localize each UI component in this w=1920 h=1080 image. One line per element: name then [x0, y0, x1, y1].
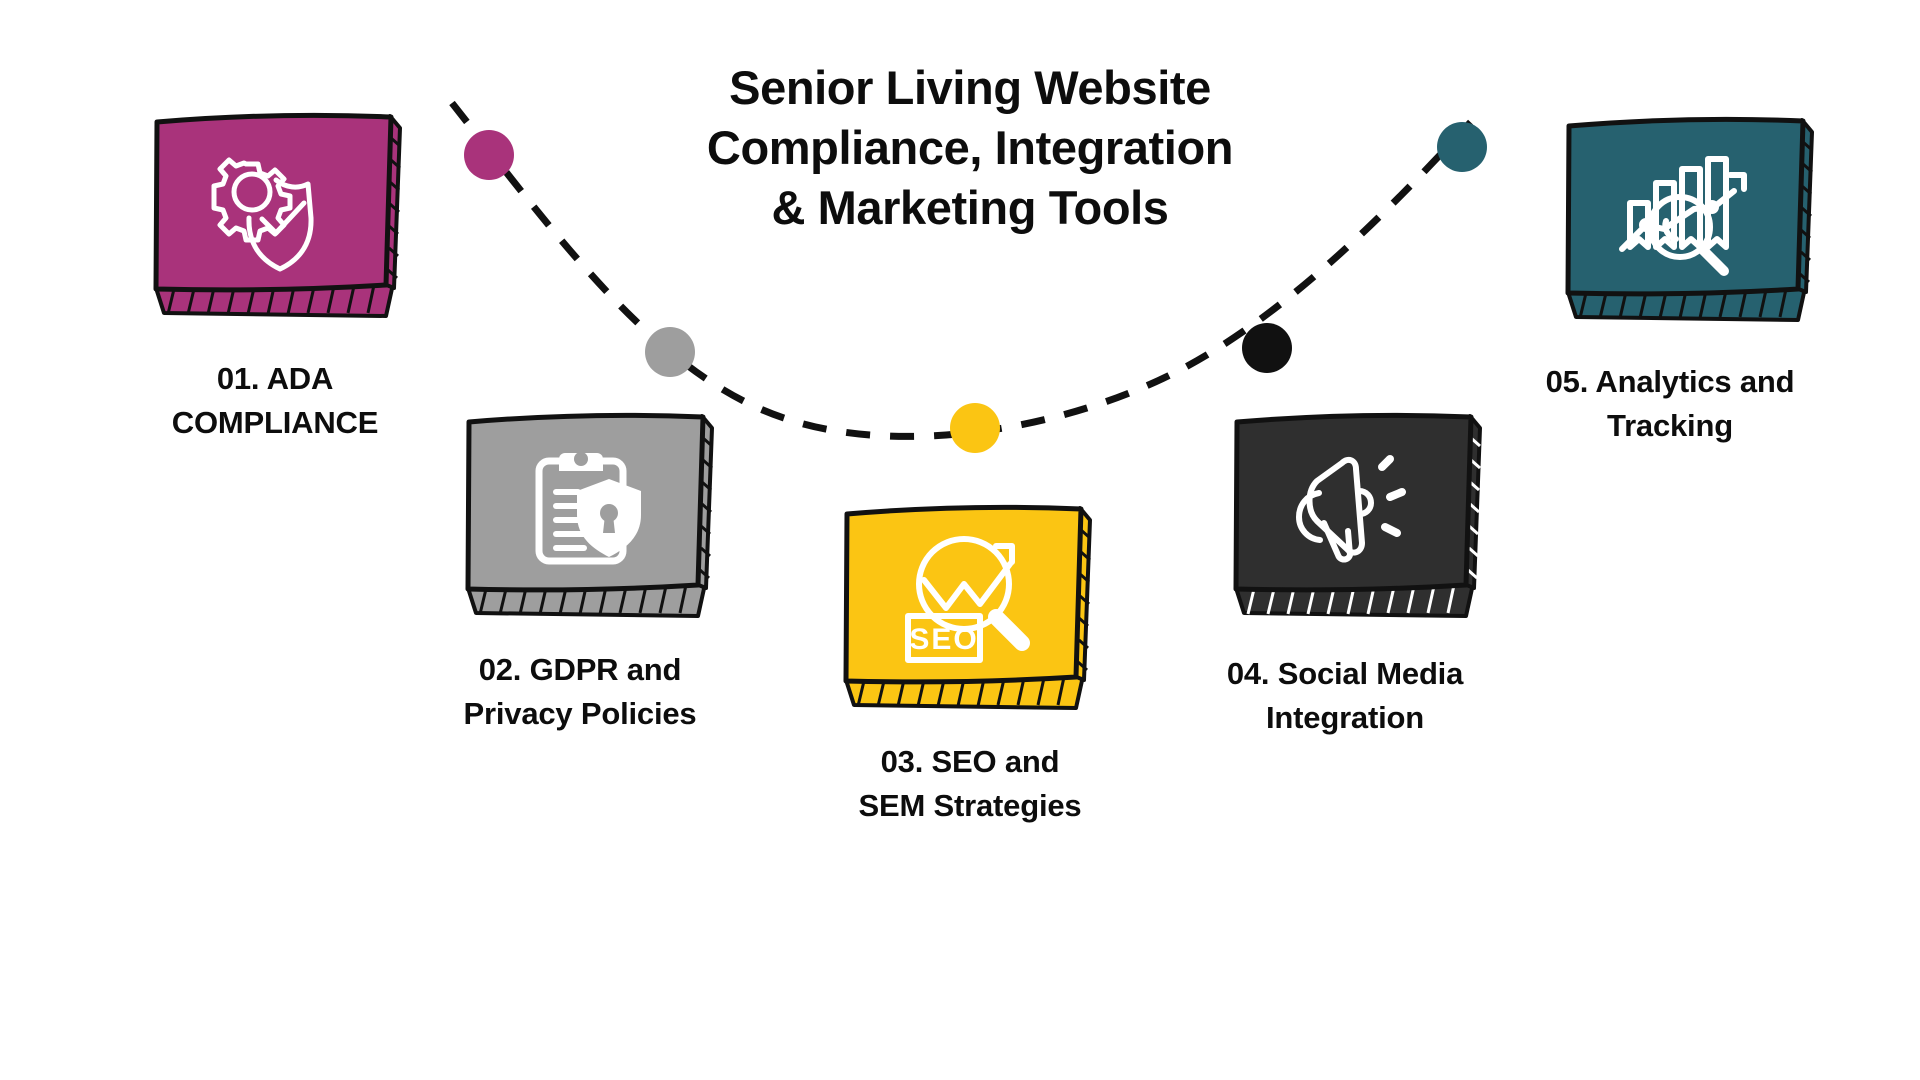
step-label-1: 01. ADA COMPLIANCE [115, 357, 435, 445]
megaphone-icon [1228, 408, 1483, 606]
card-shape-5 [1560, 112, 1815, 322]
connector-dot-4 [1242, 323, 1292, 373]
bar-chart-magnifier-icon [1560, 112, 1815, 310]
step-label-4: 04. Social Media Integration [1165, 652, 1525, 740]
page-title: Senior Living Website Compliance, Integr… [590, 58, 1350, 238]
connector-dot-1 [464, 130, 514, 180]
svg-text:SEO: SEO [909, 623, 978, 656]
connector-dot-5 [1437, 122, 1487, 172]
connector-dot-3 [950, 403, 1000, 453]
clipboard-lock-shield-icon [460, 408, 715, 606]
card-shape-4 [1228, 408, 1483, 618]
step-card-5[interactable] [1560, 112, 1815, 322]
step-label-3: 03. SEO and SEM Strategies [800, 740, 1140, 828]
card-shape-1 [148, 108, 403, 318]
step-card-2[interactable] [460, 408, 715, 618]
step-label-2: 02. GDPR and Privacy Policies [400, 648, 760, 736]
card-shape-3: SEO [838, 500, 1093, 710]
gear-shield-check-icon [148, 108, 403, 306]
connector-dot-2 [645, 327, 695, 377]
step-label-5: 05. Analytics and Tracking [1480, 360, 1860, 448]
step-card-1[interactable] [148, 108, 403, 318]
step-card-4[interactable] [1228, 408, 1483, 618]
card-shape-2 [460, 408, 715, 618]
infographic-canvas: Senior Living Website Compliance, Integr… [0, 0, 1920, 1080]
step-card-3[interactable]: SEO [838, 500, 1093, 710]
seo-magnifier-growth-icon: SEO [838, 500, 1093, 698]
